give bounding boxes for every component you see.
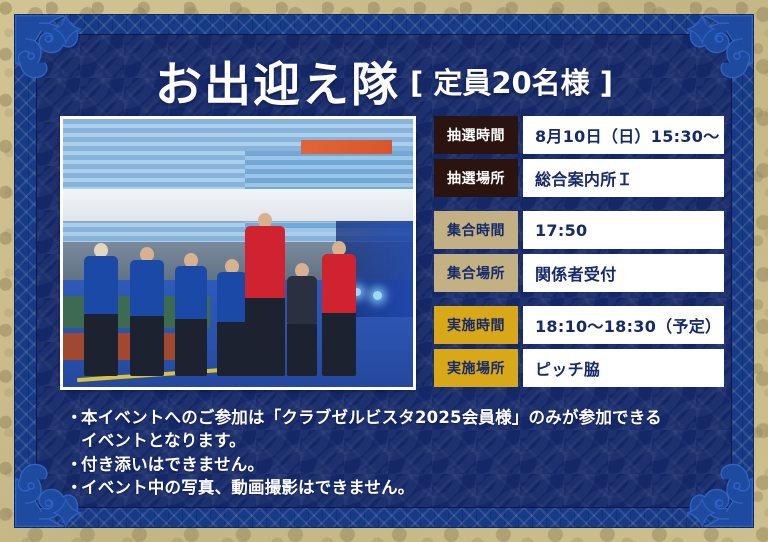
note-item: ・ 付き添いはできません。 bbox=[66, 453, 706, 476]
bullet-icon: ・ bbox=[66, 406, 81, 429]
table-row: 実施場所 ピッチ脇 bbox=[434, 349, 724, 387]
inner-panel: お出迎え隊 [ 定員20名様 ] bbox=[36, 34, 732, 508]
bullet-icon: ・ bbox=[66, 453, 81, 476]
photo-person bbox=[175, 266, 207, 376]
table-row: 抽選時間 8月10日（日）15:30〜 bbox=[434, 116, 724, 154]
photo-person bbox=[217, 272, 247, 376]
photo-person bbox=[130, 260, 164, 376]
row-value: 関係者受付 bbox=[523, 254, 724, 292]
page-title: お出迎え隊 [ 定員20名様 ] bbox=[36, 48, 732, 122]
photo-person bbox=[287, 276, 317, 376]
row-label: 集合場所 bbox=[434, 254, 518, 292]
event-photo bbox=[63, 119, 413, 387]
photo-banner bbox=[301, 140, 392, 153]
title-capacity-text: [ 定員20名様 ] bbox=[410, 69, 613, 101]
photo-light bbox=[373, 291, 382, 300]
table-row: 実施時間 18:10〜18:30（予定） bbox=[434, 306, 724, 344]
photo-person bbox=[84, 256, 118, 376]
photo-concourse bbox=[63, 189, 413, 221]
table-row: 集合時間 17:50 bbox=[434, 211, 724, 249]
photo-player bbox=[322, 254, 356, 376]
title-main-text: お出迎え隊 bbox=[155, 62, 400, 109]
info-group-meeting: 集合時間 17:50 集合場所 関係者受付 bbox=[434, 211, 724, 292]
table-row: 集合場所 関係者受付 bbox=[434, 254, 724, 292]
note-item: ・ 本イベントへのご参加は「クラブゼルビスタ2025会員様」のみが参加できる bbox=[66, 406, 706, 429]
event-info-table: 抽選時間 8月10日（日）15:30〜 抽選場所 総合案内所Ｉ 集合時間 17:… bbox=[434, 116, 724, 387]
row-value: 総合案内所Ｉ bbox=[523, 159, 724, 197]
row-label: 実施時間 bbox=[434, 306, 518, 344]
info-group-lottery: 抽選時間 8月10日（日）15:30〜 抽選場所 総合案内所Ｉ bbox=[434, 116, 724, 197]
note-text: イベント中の写真、動画撮影はできません。 bbox=[81, 476, 706, 499]
notes-list: ・ 本イベントへのご参加は「クラブゼルビスタ2025会員様」のみが参加できる イ… bbox=[66, 406, 706, 500]
poster: お出迎え隊 [ 定員20名様 ] bbox=[0, 0, 768, 542]
note-item: ・ イベント中の写真、動画撮影はできません。 bbox=[66, 476, 706, 499]
event-photo-frame bbox=[60, 116, 416, 390]
photo-player bbox=[245, 226, 285, 376]
row-label: 集合時間 bbox=[434, 211, 518, 249]
row-label: 抽選場所 bbox=[434, 159, 518, 197]
note-item-continuation: イベントとなります。 bbox=[66, 429, 706, 452]
note-text: 本イベントへのご参加は「クラブゼルビスタ2025会員様」のみが参加できる bbox=[81, 406, 706, 429]
photo-red-track bbox=[63, 333, 182, 360]
row-value: 8月10日（日）15:30〜 bbox=[523, 116, 724, 154]
row-label: 実施場所 bbox=[434, 349, 518, 387]
row-value: 17:50 bbox=[523, 211, 724, 249]
row-label: 抽選時間 bbox=[434, 116, 518, 154]
note-text: イベントとなります。 bbox=[81, 429, 706, 452]
row-value: 18:10〜18:30（予定） bbox=[523, 306, 724, 344]
info-group-event: 実施時間 18:10〜18:30（予定） 実施場所 ピッチ脇 bbox=[434, 306, 724, 387]
bullet-icon: ・ bbox=[66, 476, 81, 499]
note-text: 付き添いはできません。 bbox=[81, 453, 706, 476]
table-row: 抽選場所 総合案内所Ｉ bbox=[434, 159, 724, 197]
row-value: ピッチ脇 bbox=[523, 349, 724, 387]
